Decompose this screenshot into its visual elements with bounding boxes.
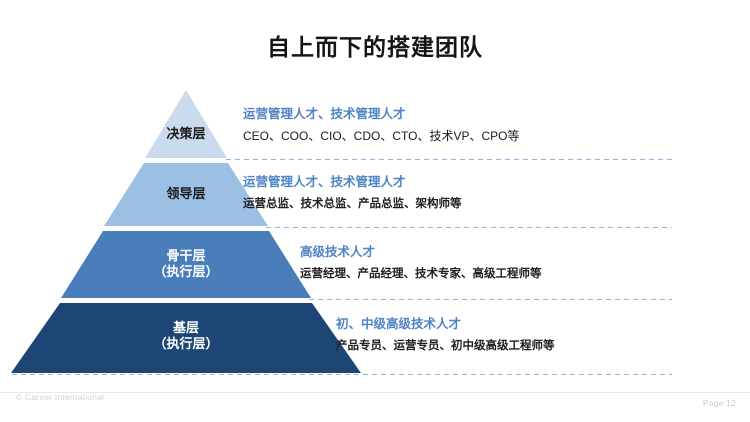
tier-3-text-block: 高级技术人才 运营经理、产品经理、技术专家、高级工程师等: [300, 244, 542, 282]
page-title: 自上而下的搭建团队: [0, 32, 750, 62]
tier-4-heading: 初、中级高级技术人才: [336, 316, 555, 333]
pyramid-tier-1-shape[interactable]: [145, 90, 227, 158]
tier-3-detail: 运营经理、产品经理、技术专家、高级工程师等: [300, 266, 542, 282]
pyramid-diagram: 决策层 领导层 骨干层 （执行层） 基层 （执行层） 运营管理人才、技术管理人才…: [0, 88, 750, 380]
tier-3-heading: 高级技术人才: [300, 244, 542, 261]
tier-1-detail: CEO、COO、CIO、CDO、CTO、技术VP、CPO等: [243, 128, 519, 144]
tier-1-heading: 运营管理人才、技术管理人才: [243, 106, 519, 123]
pyramid-tier-4-shape[interactable]: [11, 303, 361, 373]
footer-divider: [0, 392, 750, 393]
tier-2-heading: 运营管理人才、技术管理人才: [243, 174, 462, 191]
slide-canvas: 自上而下的搭建团队 决策层 领导层 骨干层 （执行层） 基层 （执行层） 运营管…: [0, 0, 750, 422]
tier-2-detail: 运营总监、技术总监、产品总监、架构师等: [243, 196, 462, 212]
tier-4-detail: 产品专员、运营专员、初中级高级工程师等: [336, 338, 555, 354]
tier-4-text-block: 初、中级高级技术人才 产品专员、运营专员、初中级高级工程师等: [336, 316, 555, 354]
footer-page-number: Page 12: [703, 398, 736, 408]
pyramid-tier-3-shape[interactable]: [61, 231, 311, 298]
tier-2-text-block: 运营管理人才、技术管理人才 运营总监、技术总监、产品总监、架构师等: [243, 174, 462, 212]
tier-1-text-block: 运营管理人才、技术管理人才 CEO、COO、CIO、CDO、CTO、技术VP、C…: [243, 106, 519, 144]
footer-copyright: © Career International: [16, 392, 104, 402]
